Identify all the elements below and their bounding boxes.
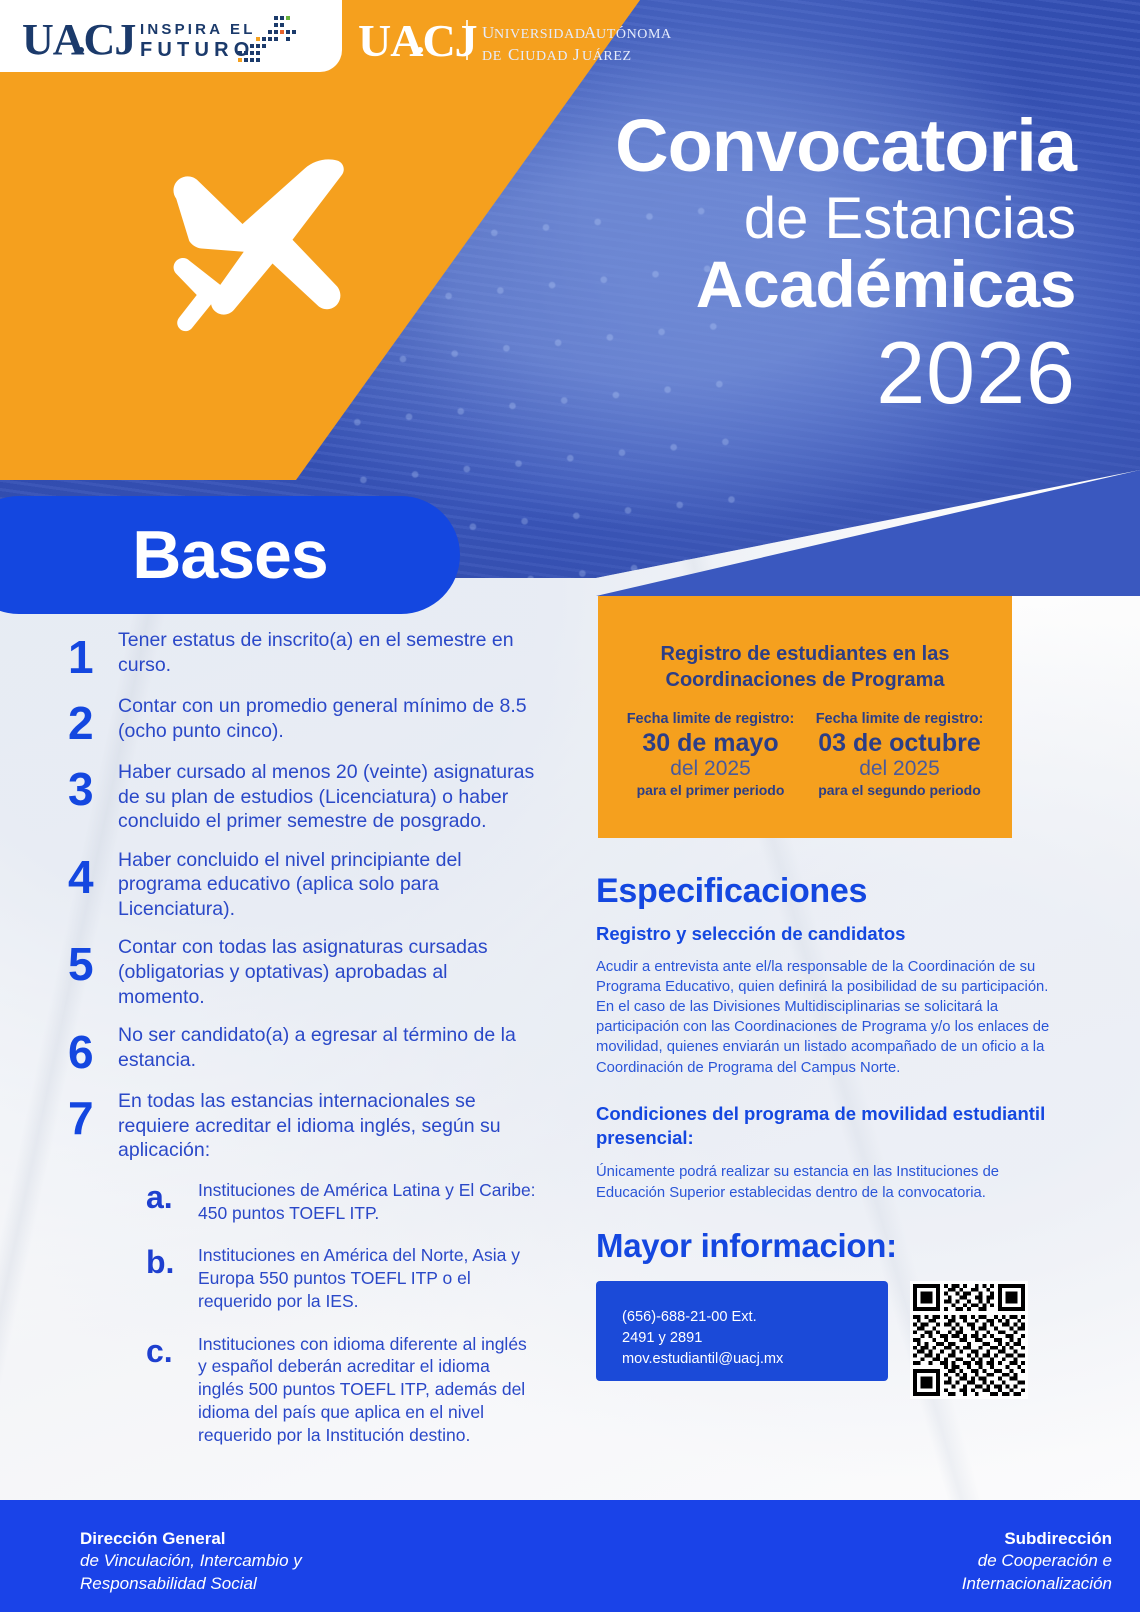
sublist-item: b. Instituciones en América del Norte, A… bbox=[146, 1244, 538, 1312]
list-item: 5 Contar con todas las asignaturas cursa… bbox=[68, 935, 538, 1009]
sublist-item: c. Instituciones con idioma diferente al… bbox=[146, 1333, 538, 1447]
bases-heading-label: Bases bbox=[92, 516, 327, 594]
title-year: 2026 bbox=[615, 329, 1076, 417]
contact-row: (656)-688-21-00 Ext. 2491 y 2891 mov.est… bbox=[596, 1281, 1066, 1399]
list-item: 4 Haber concluido el nivel principiante … bbox=[68, 848, 538, 922]
especificaciones-subheading-1: Registro y selección de candidatos bbox=[596, 923, 1066, 945]
footer-right-line-1: de Cooperación e bbox=[962, 1550, 1112, 1573]
sublist-item-text: Instituciones de América Latina y El Car… bbox=[198, 1179, 538, 1225]
especificaciones-paragraph-1: Acudir a entrevista ante el/la responsab… bbox=[596, 957, 1066, 1078]
especificaciones-paragraph-2: Únicamente podrá realizar su estancia en… bbox=[596, 1162, 1066, 1203]
svg-text:C: C bbox=[508, 45, 520, 64]
poster-root: Convocatoria de Estancias Académicas 202… bbox=[0, 0, 1140, 1612]
list-item: 1 Tener estatus de inscrito(a) en el sem… bbox=[68, 628, 538, 680]
registro-deadline-label: Fecha limite de registro: bbox=[805, 711, 994, 727]
list-item-text: Haber concluido el nivel principiante de… bbox=[118, 848, 538, 922]
registro-box: Registro de estudiantes en las Coordinac… bbox=[598, 596, 1012, 838]
list-item: 3 Haber cursado al menos 20 (veinte) asi… bbox=[68, 760, 538, 834]
registro-period-1: Fecha limite de registro: 30 de mayo del… bbox=[616, 711, 805, 798]
title-line-3: Académicas bbox=[615, 251, 1076, 318]
list-item-text: Contar con todas las asignaturas cursada… bbox=[118, 935, 538, 1009]
footer-right-title: Subdirección bbox=[962, 1528, 1112, 1550]
especificaciones-subheading-2: Condiciones del programa de movilidad es… bbox=[596, 1102, 1066, 1151]
footer-left-title: Dirección General bbox=[80, 1528, 302, 1550]
list-item-number: 6 bbox=[68, 1023, 118, 1075]
contact-box: (656)-688-21-00 Ext. 2491 y 2891 mov.est… bbox=[596, 1281, 888, 1381]
svg-text:NIVERSIDAD: NIVERSIDAD bbox=[494, 27, 586, 42]
qr-code-icon[interactable] bbox=[910, 1281, 1028, 1399]
svg-text:J: J bbox=[573, 45, 580, 64]
registro-deadline-date: 03 de octubre bbox=[805, 729, 994, 757]
title-line-1: Convocatoria bbox=[615, 110, 1076, 183]
list-item: 6 No ser candidato(a) a egresar al térmi… bbox=[68, 1023, 538, 1075]
poster-title-block: Convocatoria de Estancias Académicas 202… bbox=[615, 110, 1076, 417]
list-item-text: Contar con un promedio general mínimo de… bbox=[118, 694, 538, 743]
contact-ext: 2491 y 2891 bbox=[622, 1328, 888, 1349]
footer-left-line-1: de Vinculación, Intercambio y bbox=[80, 1550, 302, 1573]
especificaciones-heading: Especificaciones bbox=[596, 872, 1066, 911]
footer-left-block: Dirección General de Vinculación, Interc… bbox=[80, 1528, 302, 1596]
list-item-text: Tener estatus de inscrito(a) en el semes… bbox=[118, 628, 538, 677]
contact-email[interactable]: mov.estudiantil@uacj.mx bbox=[622, 1349, 888, 1370]
list-item-number: 3 bbox=[68, 760, 118, 812]
list-item-number: 2 bbox=[68, 694, 118, 746]
svg-text:IUDAD: IUDAD bbox=[520, 49, 568, 64]
svg-text:INSPIRA EL: INSPIRA EL bbox=[140, 21, 256, 38]
mayor-informacion-heading: Mayor informacion: bbox=[596, 1227, 1066, 1265]
svg-text:UACJ: UACJ bbox=[22, 15, 135, 64]
footer-left-line-2: Responsabilidad Social bbox=[80, 1573, 302, 1596]
svg-text:FUTURO: FUTURO bbox=[140, 39, 255, 61]
registro-title: Registro de estudiantes en las Coordinac… bbox=[616, 642, 994, 693]
especificaciones-section: Especificaciones Registro y selección de… bbox=[596, 872, 1066, 1399]
registro-period-label: para el primer periodo bbox=[616, 782, 805, 798]
sublist-item-text: Instituciones con idioma diferente al in… bbox=[198, 1333, 538, 1447]
sublist-item-letter: b. bbox=[146, 1244, 198, 1278]
list-item-number: 4 bbox=[68, 848, 118, 900]
uacj-inspira-el-futuro-logo: UACJ INSPIRA EL FUTURO bbox=[22, 14, 322, 66]
registro-period-label: para el segundo periodo bbox=[805, 782, 994, 798]
footer-right-line-2: Internacionalización bbox=[962, 1573, 1112, 1596]
sublist-item-text: Instituciones en América del Norte, Asia… bbox=[198, 1244, 538, 1312]
list-item-number: 5 bbox=[68, 935, 118, 987]
airplane-icon bbox=[160, 120, 410, 370]
svg-text:DE: DE bbox=[482, 49, 502, 64]
list-item-number: 1 bbox=[68, 628, 118, 680]
footer-bar: Dirección General de Vinculación, Interc… bbox=[0, 1500, 1140, 1612]
svg-text:UACJ: UACJ bbox=[358, 15, 477, 66]
svg-text:U: U bbox=[482, 23, 495, 42]
sublist-item-letter: a. bbox=[146, 1179, 198, 1213]
list-item: 2 Contar con un promedio general mínimo … bbox=[68, 694, 538, 746]
list-item-number: 7 bbox=[68, 1089, 118, 1141]
registro-deadline-date: 30 de mayo bbox=[616, 729, 805, 757]
title-line-2: de Estancias bbox=[615, 187, 1076, 252]
registro-period-2: Fecha limite de registro: 03 de octubre … bbox=[805, 711, 994, 798]
footer-right-block: Subdirección de Cooperación e Internacio… bbox=[962, 1528, 1112, 1596]
bases-sublist: a. Instituciones de América Latina y El … bbox=[146, 1179, 538, 1447]
registro-deadline-label: Fecha limite de registro: bbox=[616, 711, 805, 727]
uacj-universidad-logo: UACJ U NIVERSIDAD A UTÓNOMA DE C IUDAD J… bbox=[358, 12, 678, 68]
bases-list: 1 Tener estatus de inscrito(a) en el sem… bbox=[68, 628, 538, 1466]
list-item-text: Haber cursado al menos 20 (veinte) asign… bbox=[118, 760, 538, 834]
svg-text:UÁREZ: UÁREZ bbox=[582, 47, 632, 64]
list-item: 7 En todas las estancias internacionales… bbox=[68, 1089, 538, 1163]
list-item-text: No ser candidato(a) a egresar al término… bbox=[118, 1023, 538, 1072]
svg-text:UTÓNOMA: UTÓNOMA bbox=[596, 25, 672, 42]
registro-deadline-year: del 2025 bbox=[616, 757, 805, 781]
bases-heading-pill: Bases bbox=[0, 496, 460, 614]
sublist-item-letter: c. bbox=[146, 1333, 198, 1367]
sublist-item: a. Instituciones de América Latina y El … bbox=[146, 1179, 538, 1225]
contact-phone: (656)-688-21-00 Ext. bbox=[622, 1307, 888, 1328]
list-item-text: En todas las estancias internacionales s… bbox=[118, 1089, 538, 1163]
registro-deadline-year: del 2025 bbox=[805, 757, 994, 781]
